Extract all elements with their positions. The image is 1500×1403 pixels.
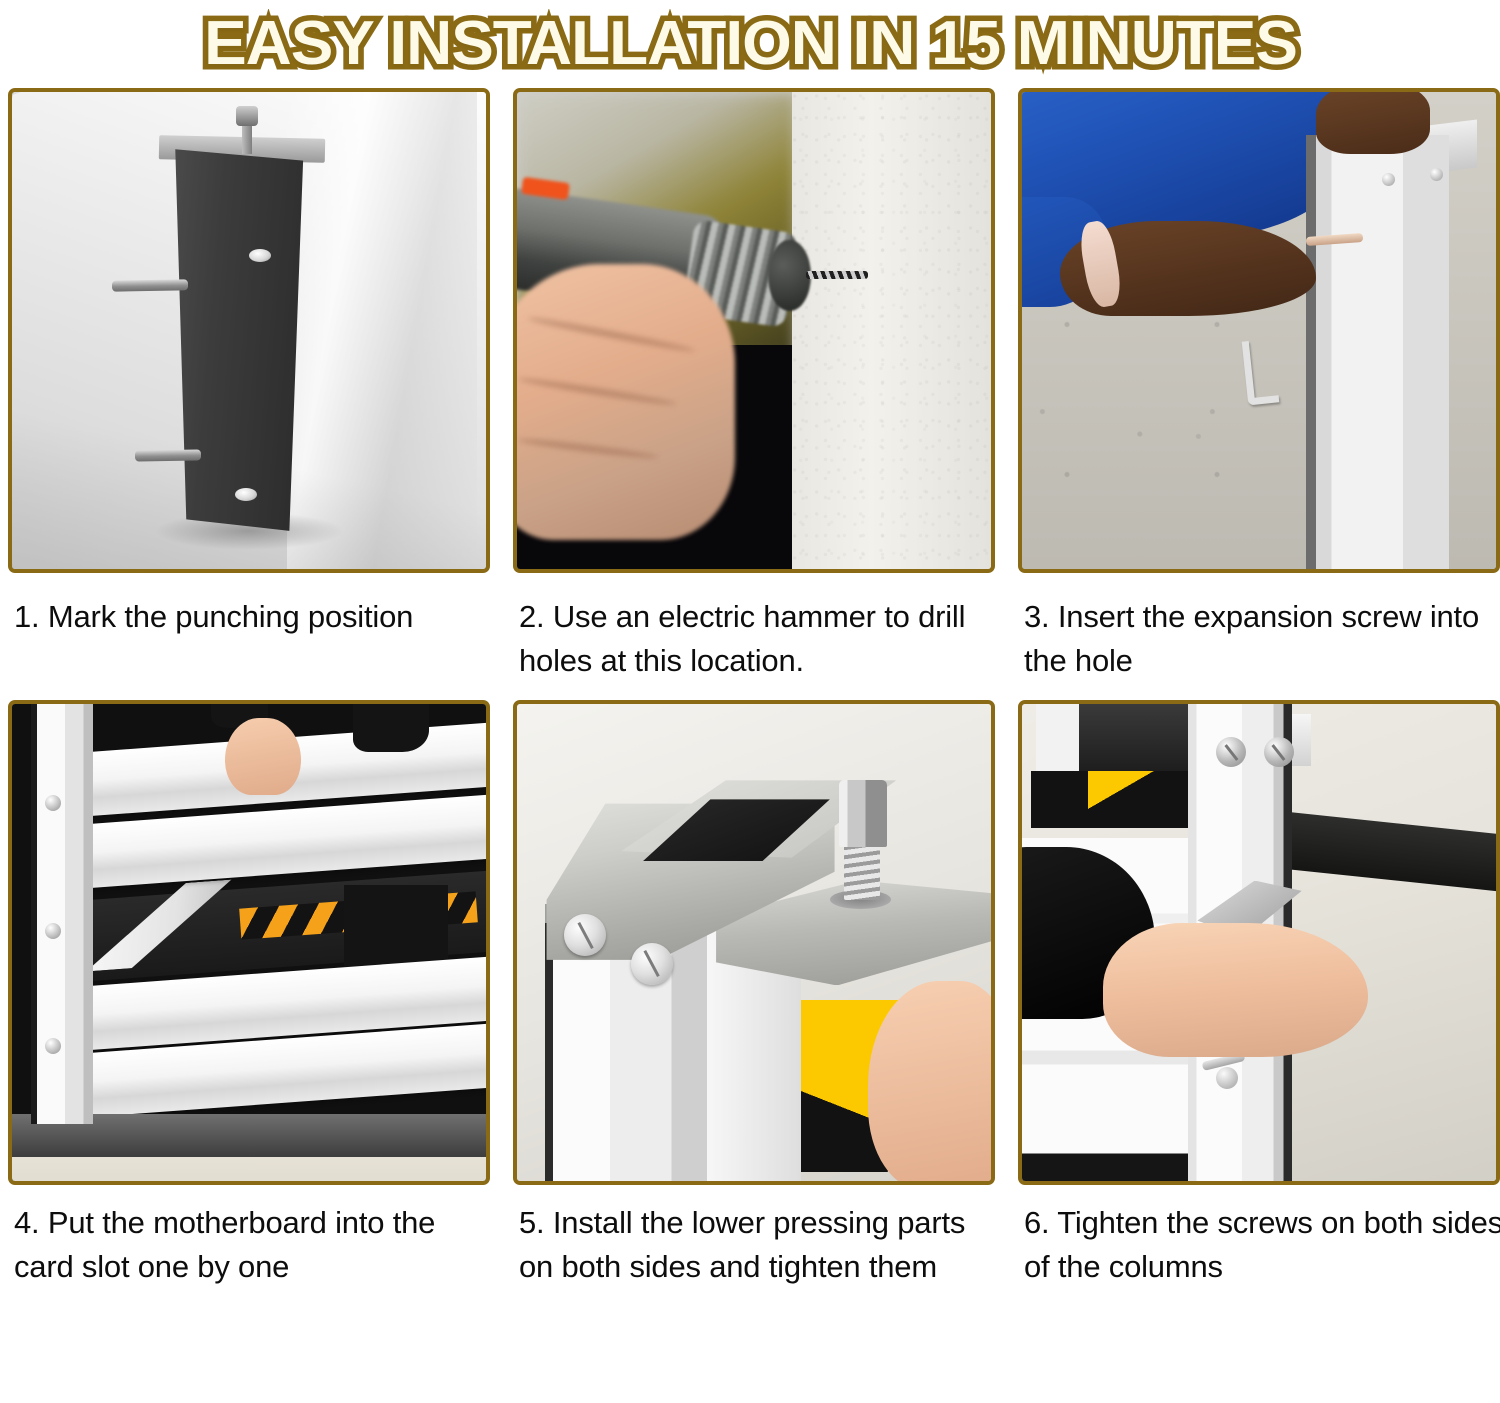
hand-placing-board xyxy=(225,718,301,794)
step-caption-2: 2. Use an electric hammer to drill holes… xyxy=(513,573,1003,683)
steps-row-bottom: 4. Put the motherboard into the card slo… xyxy=(0,700,1500,1289)
metal-post-photo xyxy=(12,92,486,569)
expansion-screw-photo xyxy=(1022,92,1496,569)
step-photo-4 xyxy=(8,700,490,1185)
step-card-1: 1. Mark the punching position xyxy=(8,88,498,683)
dark-sleeve-right xyxy=(353,704,429,752)
step-caption-6: 6. Tighten the screws on both sides of t… xyxy=(1018,1185,1500,1289)
column-dark-trim xyxy=(545,923,553,1181)
post-bolt-head xyxy=(236,106,258,126)
step-photo-3 xyxy=(1018,88,1500,573)
step-card-4: 4. Put the motherboard into the card slo… xyxy=(8,700,498,1289)
drill-chuck-nose xyxy=(768,240,811,312)
step-card-2: 2. Use an electric hammer to drill holes… xyxy=(513,88,1003,683)
steps-row-top: 1. Mark the punching position 2. Use an … xyxy=(0,88,1500,683)
allen-key-on-floor xyxy=(1241,339,1278,406)
person-leg xyxy=(344,885,448,971)
top-screw-right xyxy=(1264,737,1294,767)
step-caption-3: 3. Insert the expansion screw into the h… xyxy=(1018,573,1500,683)
tighten-screws-photo xyxy=(1022,704,1496,1181)
column-screw-top xyxy=(45,795,61,811)
step-card-3: 3. Insert the expansion screw into the h… xyxy=(1018,88,1500,683)
header-banner: EASY INSTALLATION IN 15 MINUTES xyxy=(0,0,1500,88)
upper-white-band xyxy=(1036,704,1079,771)
step-card-5: 5. Install the lower pressing parts on b… xyxy=(513,700,1003,1289)
hand-holding-drill xyxy=(517,264,735,541)
step-photo-1 xyxy=(8,88,490,573)
lower-screw-head xyxy=(1216,1067,1238,1089)
white-column xyxy=(1306,135,1448,569)
step-caption-4: 4. Put the motherboard into the card slo… xyxy=(8,1185,498,1289)
left-white-column xyxy=(31,704,93,1124)
drilling-photo xyxy=(517,92,991,569)
hazard-black-6 xyxy=(1031,771,1088,828)
drill-bit xyxy=(806,271,868,279)
step-photo-6 xyxy=(1018,700,1500,1185)
dark-metal-post xyxy=(168,149,305,531)
step-caption-1: 1. Mark the punching position xyxy=(8,573,498,639)
bolt-head xyxy=(839,780,886,847)
step-caption-5: 5. Install the lower pressing parts on b… xyxy=(513,1185,1003,1289)
column-screw-2 xyxy=(1430,168,1443,181)
marking-pin-upper xyxy=(111,280,187,292)
pressing-part-photo xyxy=(517,704,991,1181)
step-card-6: 6. Tighten the screws on both sides of t… xyxy=(1018,700,1500,1289)
column-screw-bottom xyxy=(45,1038,61,1054)
hand-tightening xyxy=(1103,923,1368,1057)
white-textured-wall xyxy=(792,92,991,569)
step-photo-5 xyxy=(513,700,995,1185)
bracket-screw-2 xyxy=(631,943,673,985)
marking-pin-lower xyxy=(135,449,202,461)
page-title: EASY INSTALLATION IN 15 MINUTES xyxy=(204,13,1297,75)
step-photo-2 xyxy=(513,88,995,573)
bracket-screw-1 xyxy=(564,914,606,956)
mounting-hole-lower xyxy=(235,488,257,501)
motherboard-slot-photo xyxy=(12,704,486,1181)
second-hand xyxy=(1316,92,1430,154)
